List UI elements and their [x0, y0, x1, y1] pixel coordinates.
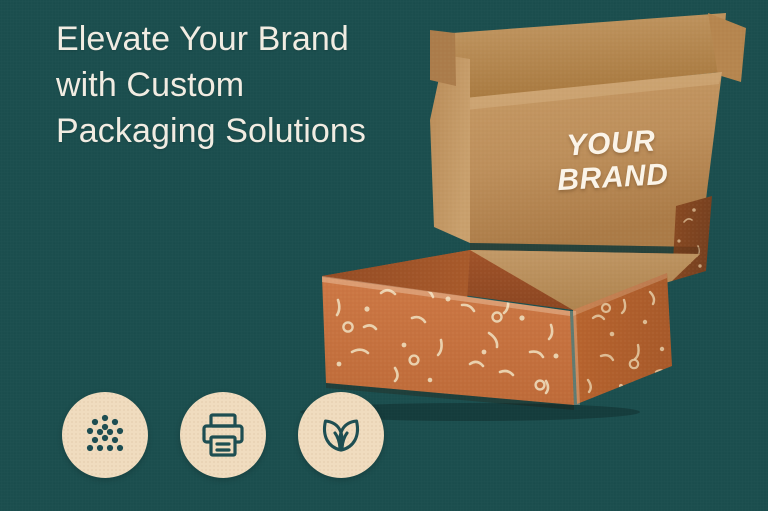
feature-printing[interactable]	[180, 392, 266, 478]
brand-print-text: YOUR BRAND	[525, 122, 699, 199]
dot-pattern-icon	[81, 411, 129, 459]
leaf-icon	[316, 410, 366, 460]
promo-banner: YOUR BRAND Elevate Your Brand with Custo…	[0, 0, 768, 511]
page-title: Elevate Your Brand with Custom Packaging…	[56, 16, 456, 154]
printer-icon	[198, 410, 248, 460]
feature-pattern[interactable]	[62, 392, 148, 478]
feature-icon-row	[62, 392, 384, 478]
feature-eco[interactable]	[298, 392, 384, 478]
